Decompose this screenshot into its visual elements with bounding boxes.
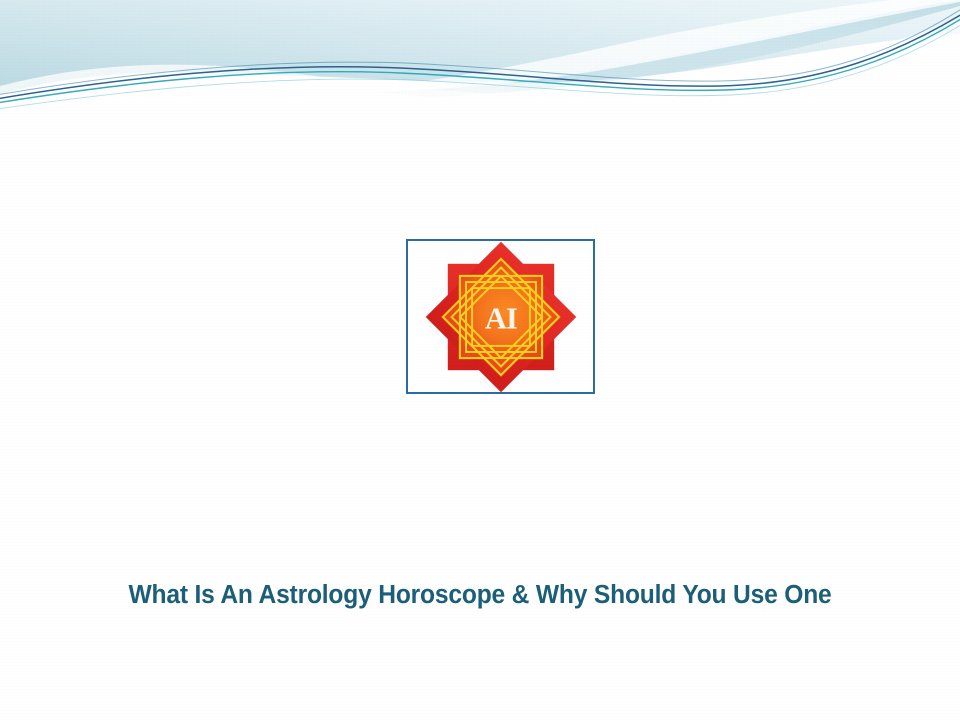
logo-card: AI	[406, 239, 595, 394]
logo-card-inner: AI	[408, 241, 593, 392]
ai-star-logo: AI	[425, 241, 577, 393]
logo-ai-text: AI	[484, 301, 516, 335]
slide-canvas: AI What Is An Astrology Horoscope & Why …	[0, 0, 960, 720]
wave-banner	[0, 0, 960, 130]
page-title: What Is An Astrology Horoscope & Why Sho…	[17, 578, 943, 612]
